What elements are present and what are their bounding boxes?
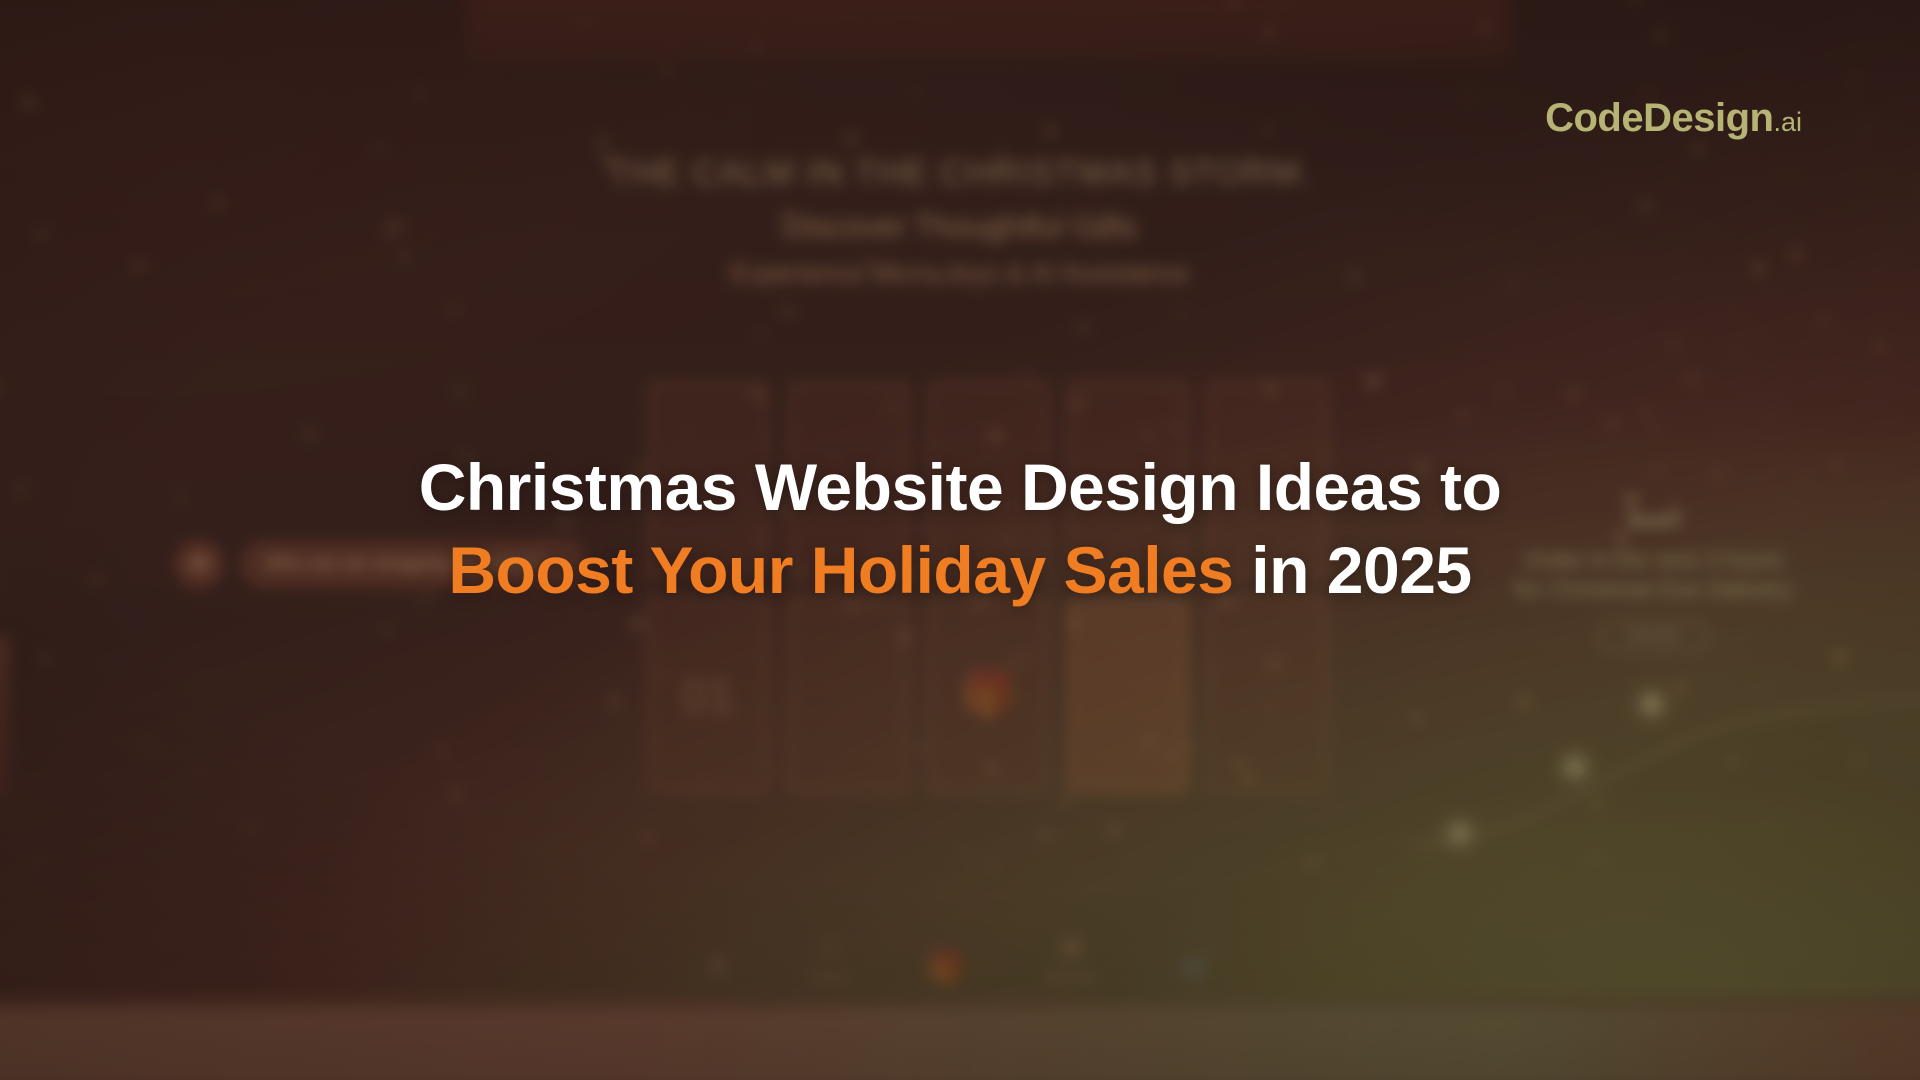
codedesign-logo[interactable]: CodeDesign.ai xyxy=(1545,96,1802,141)
brand-name: CodeDesign xyxy=(1545,96,1773,140)
hero-banner: THE CALM IN THE CHRISTMAS STORM. Discove… xyxy=(0,0,1920,1080)
headline-tail-text: in 2025 xyxy=(1233,533,1471,607)
page-title: Christmas Website Design Ideas to Boost … xyxy=(0,452,1920,607)
headline-line-2: Boost Your Holiday Sales in 2025 xyxy=(0,535,1920,606)
headline-line-1: Christmas Website Design Ideas to xyxy=(419,450,1502,524)
headline-accent-text: Boost Your Holiday Sales xyxy=(448,533,1233,607)
brand-suffix: .ai xyxy=(1773,107,1802,137)
